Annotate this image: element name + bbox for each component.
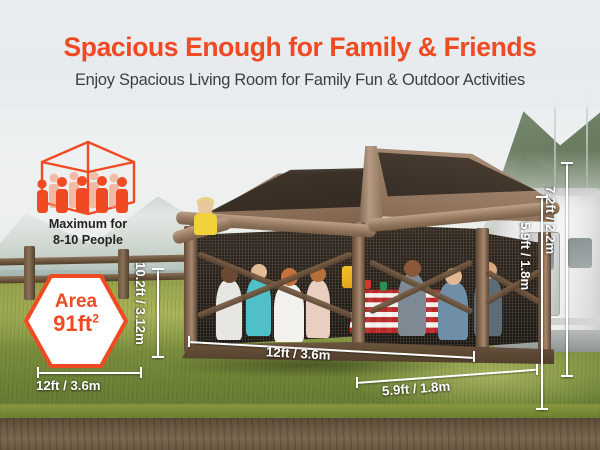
cup [380, 282, 387, 291]
cup [364, 280, 371, 289]
area-line-2: 91ft2 [22, 312, 130, 335]
dimension-cap [536, 364, 538, 375]
area-line-1: Area [22, 292, 130, 312]
rv-window [568, 238, 592, 268]
dimension-label-eave-height: 5.9ft / 1.8m [518, 222, 533, 290]
dirt-texture [0, 418, 600, 450]
hexagon-gazebo-people-icon [22, 138, 154, 218]
dimension-cap [152, 268, 164, 270]
area-unit-superscript: 2 [92, 312, 99, 326]
corner-pole [476, 228, 489, 354]
page-title: Spacious Enough for Family & Friends [0, 34, 600, 61]
capacity-label: Maximum for 8-10 People [18, 216, 158, 248]
dimension-label-front-left-width: 12ft / 3.6m [36, 378, 101, 393]
area-badge: Area 91ft2 [22, 272, 130, 370]
dimension-line-peak-height [566, 162, 568, 377]
corner-pole [184, 226, 197, 352]
dimension-cap [188, 336, 190, 347]
header-band: Spacious Enough for Family & Friends Enj… [0, 0, 600, 108]
dimension-line-interior-depth [157, 268, 159, 358]
dimension-cap [152, 356, 164, 358]
dimension-line-front-left-width [37, 372, 142, 374]
dimension-cap [356, 377, 358, 388]
dimension-cap [536, 196, 548, 198]
dimension-line-eave-height [541, 196, 543, 410]
dimension-cap [140, 367, 142, 378]
product-marketing-image: Spacious Enough for Family & Friends Enj… [0, 0, 600, 450]
roof-vent-mesh-left [202, 168, 372, 214]
capacity-badge: Maximum for 8-10 People [22, 138, 154, 258]
dimension-cap [473, 351, 475, 362]
capacity-line-2: 8-10 People [18, 232, 158, 248]
gazebo-screen-house [182, 132, 550, 364]
page-subtitle: Enjoy Spacious Living Room for Family Fu… [0, 72, 600, 88]
area-value: 91ft [53, 311, 92, 336]
corner-pole [352, 222, 365, 354]
child-body [194, 213, 217, 235]
person-head [404, 260, 421, 277]
dimension-cap [536, 408, 548, 410]
dimension-cap [561, 162, 573, 164]
dimension-cap [561, 375, 573, 377]
capacity-line-1: Maximum for [18, 216, 158, 232]
dimension-label-interior-depth: 10.2ft / 3.12m [133, 262, 148, 345]
area-label: Area 91ft2 [22, 292, 130, 335]
dimension-cap [37, 367, 39, 378]
